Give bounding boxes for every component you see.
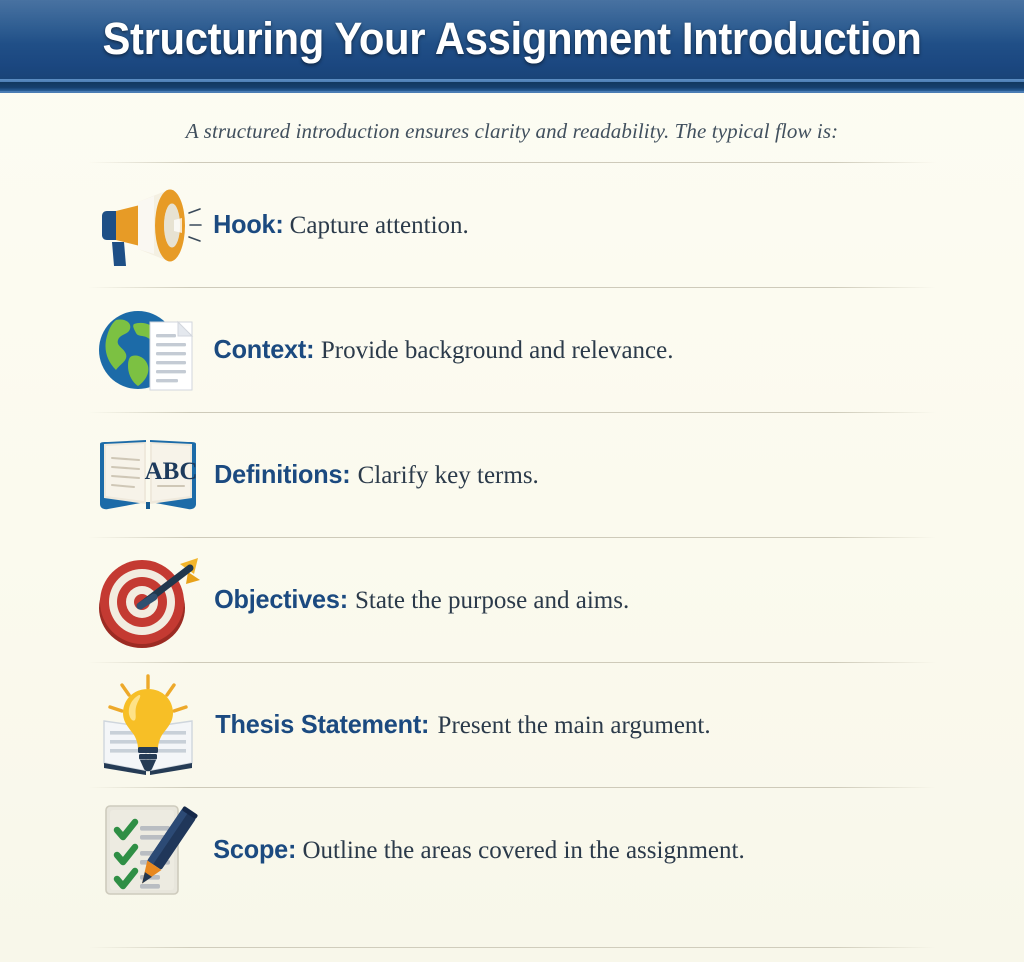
list-item-text: Objectives:State the purpose and aims. [204, 585, 629, 615]
header-dark-rule [0, 82, 1024, 91]
list-item-text: Context:Provide background and relevance… [204, 335, 673, 365]
megaphone-icon [92, 173, 204, 277]
list-item: Hook:Capture attention. [0, 162, 1024, 287]
list-item-text: Thesis Statement:Present the main argume… [204, 710, 711, 740]
list-item-label: Thesis Statement: [215, 710, 429, 739]
list-item-label: Context: [214, 335, 315, 364]
structure-list: Hook:Capture attention. [0, 162, 1024, 912]
list-item: Context:Provide background and relevance… [0, 287, 1024, 412]
list-item-label: Definitions: [214, 460, 350, 489]
list-item-description: Outline the areas covered in the assignm… [302, 837, 744, 864]
list-item: Scope:Outline the areas covered in the a… [0, 787, 1024, 912]
list-item: ABC Definitions:Clarify key terms. [0, 412, 1024, 537]
list-item-label: Scope: [213, 835, 296, 864]
subtitle-text: A structured introduction ensures clarit… [0, 93, 1024, 144]
list-item-description: State the purpose and aims. [355, 587, 629, 614]
page-title: Structuring Your Assignment Introduction [36, 13, 988, 65]
open-book-abc-icon: ABC [92, 423, 204, 527]
bottom-divider [88, 947, 936, 948]
header-edge-rule [0, 91, 1024, 93]
list-item-text: Definitions:Clarify key terms. [204, 460, 539, 490]
list-item-description: Present the main argument. [438, 712, 711, 739]
lightbulb-book-icon [92, 673, 204, 777]
list-item: Objectives:State the purpose and aims. [0, 537, 1024, 662]
globe-document-icon [92, 298, 204, 402]
list-item-text: Scope:Outline the areas covered in the a… [204, 835, 745, 865]
book-abc-text: ABC [145, 458, 198, 485]
list-item-description: Provide background and relevance. [321, 337, 674, 364]
infographic-page: Structuring Your Assignment Introduction… [0, 0, 1024, 962]
list-item: Thesis Statement:Present the main argume… [0, 662, 1024, 787]
list-item-text: Hook:Capture attention. [204, 210, 469, 240]
list-item-label: Hook: [213, 210, 283, 239]
list-item-description: Capture attention. [290, 212, 469, 239]
header-banner: Structuring Your Assignment Introduction [0, 0, 1024, 93]
list-item-label: Objectives: [214, 585, 348, 614]
checklist-pencil-icon [92, 798, 204, 902]
list-item-description: Clarify key terms. [358, 462, 539, 489]
target-arrow-icon [92, 548, 204, 652]
